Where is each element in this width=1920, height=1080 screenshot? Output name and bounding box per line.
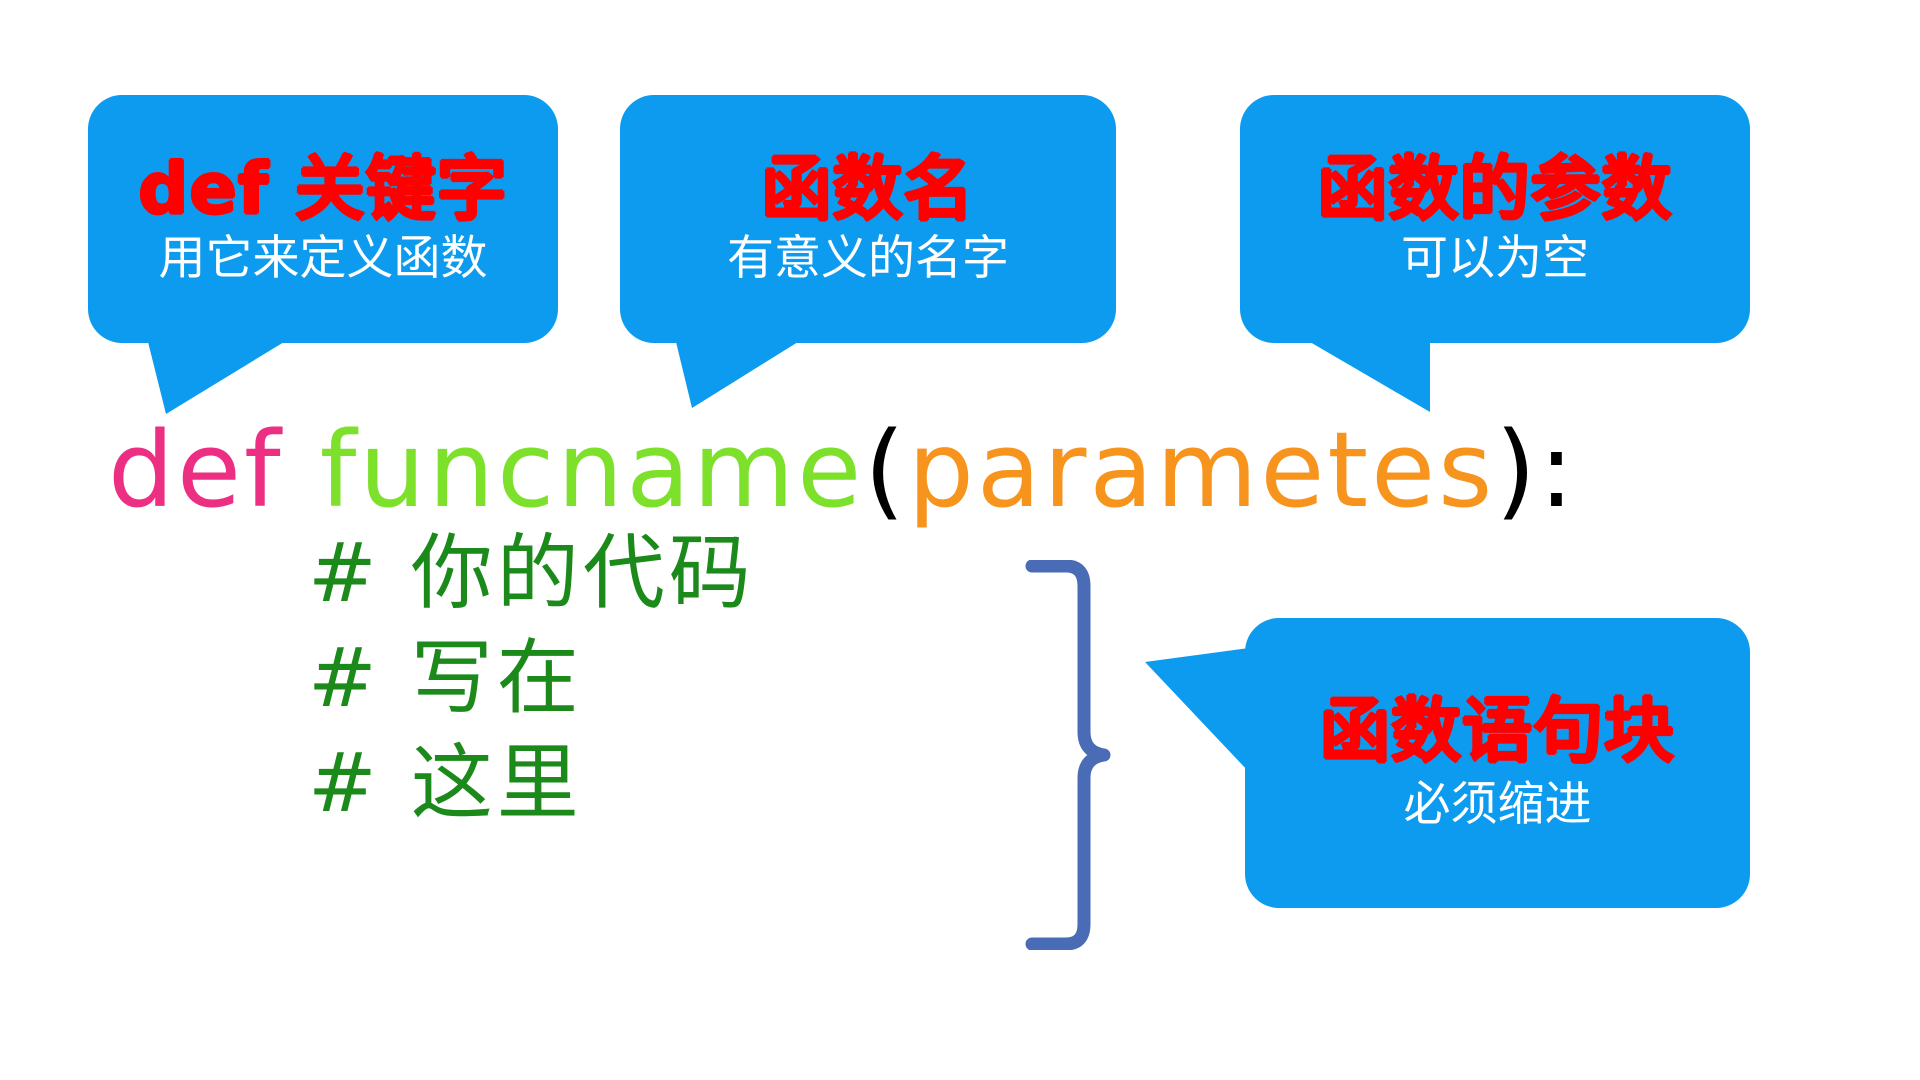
code-token-parameters: parametes — [908, 409, 1495, 531]
callout-function-parameters[interactable]: 函数的参数 可以为空 — [1240, 95, 1750, 343]
callout-title: def 关键字 — [138, 153, 507, 227]
callout-tail-down-icon — [1310, 342, 1430, 412]
code-comment-line: # 你的代码 — [308, 522, 1577, 627]
code-token-close-paren: ) — [1495, 409, 1539, 531]
callout-title: 函数语句块 — [1320, 695, 1675, 769]
body-grouping-brace — [1022, 560, 1112, 950]
callout-title: 函数名 — [762, 153, 975, 227]
callout-function-name[interactable]: 函数名 有意义的名字 — [620, 95, 1116, 343]
code-token-funcname: funcname — [320, 409, 865, 531]
callout-function-body[interactable]: 函数语句块 必须缩进 — [1245, 618, 1750, 908]
code-token-open-paren: ( — [864, 409, 908, 531]
callout-title: 函数的参数 — [1318, 153, 1673, 227]
code-token-space — [284, 409, 320, 531]
callout-def-keyword[interactable]: def 关键字 用它来定义函数 — [88, 95, 558, 343]
callout-subtitle: 可以为空 — [1401, 233, 1589, 285]
curly-brace-icon — [1022, 560, 1112, 950]
callout-tail-down-icon — [148, 342, 284, 414]
code-token-colon: : — [1539, 409, 1577, 531]
function-signature-line: def funcname(parametes): — [108, 418, 1577, 522]
callout-subtitle: 必须缩进 — [1404, 779, 1592, 831]
code-token-def: def — [108, 409, 284, 531]
callout-tail-left-icon — [1145, 648, 1249, 772]
callout-subtitle: 有意义的名字 — [727, 233, 1009, 285]
callout-tail-down-icon — [676, 342, 798, 408]
callout-subtitle: 用它来定义函数 — [159, 233, 488, 285]
diagram-canvas: def 关键字 用它来定义函数 函数名 有意义的名字 函数的参数 可以为空 de… — [0, 0, 1920, 1080]
